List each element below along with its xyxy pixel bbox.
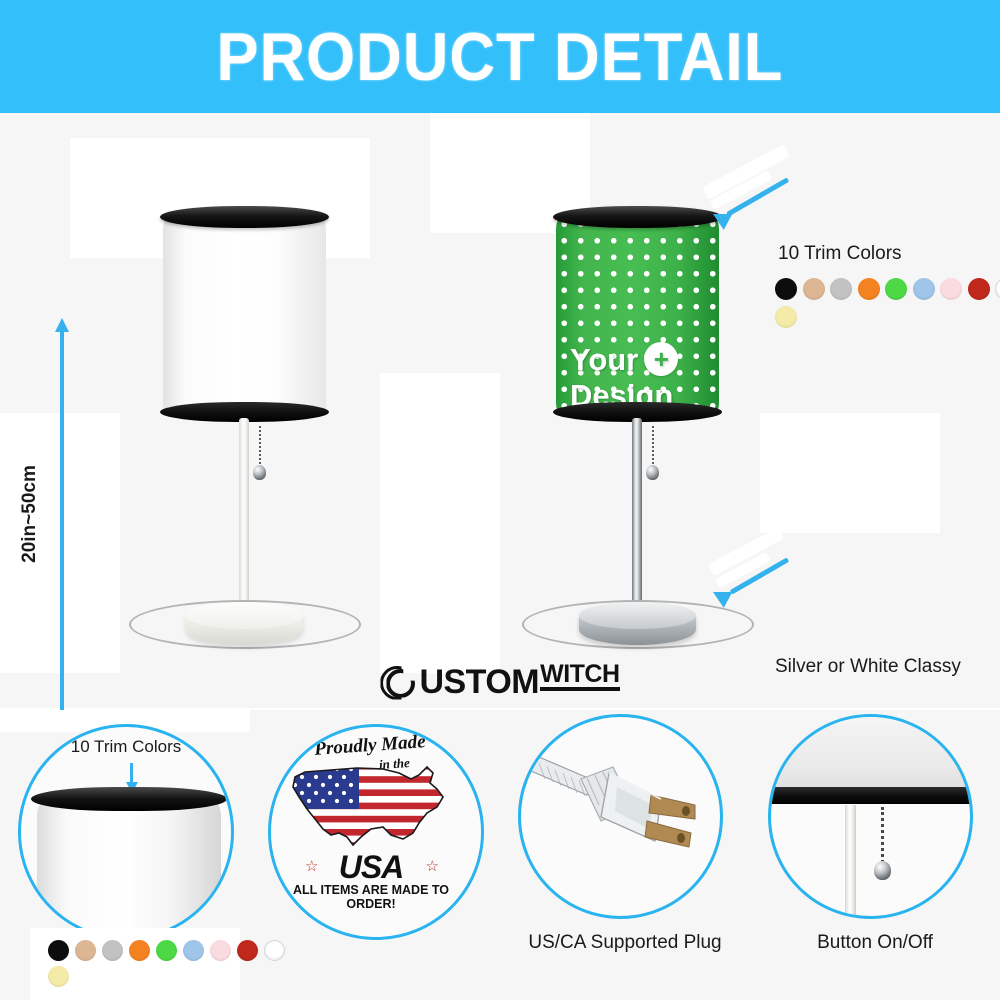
lamp-base	[186, 602, 303, 645]
swatch-row-2	[48, 966, 268, 987]
usa-line-1: Proudly Made	[304, 730, 435, 761]
swatch-tan[interactable]	[75, 940, 96, 961]
logo-sub-text: WITCH	[540, 661, 619, 691]
swatch-gray[interactable]	[102, 940, 123, 961]
plug-caption: US/CA Supported Plug	[500, 932, 750, 954]
lampshade-surface	[163, 216, 326, 416]
logo-c-icon	[380, 664, 418, 702]
add-design-plus-icon[interactable]: +	[644, 342, 678, 376]
lamp-pole	[239, 418, 249, 623]
swatch-green[interactable]	[885, 278, 907, 300]
swatch-row-1	[48, 940, 268, 961]
feature-panel-made-in-usa: Proudly Made in the	[250, 710, 500, 1000]
swatch-row-2	[775, 306, 1000, 328]
swatch-yellow[interactable]	[775, 306, 797, 328]
design-line-1: Your	[570, 344, 638, 375]
pull-chain[interactable]	[881, 807, 884, 863]
lampshade-crop	[768, 714, 973, 789]
swatch-white[interactable]	[995, 278, 1000, 300]
button-caption: Button On/Off	[750, 932, 1000, 954]
base-finish-arrow-icon	[712, 553, 802, 603]
made-in-usa-badge-circle: Proudly Made in the	[268, 724, 484, 940]
lamp-base	[579, 602, 696, 645]
usa-subtitle: ALL ITEMS ARE MADE TO ORDER!	[279, 883, 463, 911]
swatch-light-blue[interactable]	[183, 940, 204, 961]
swatch-orange[interactable]	[858, 278, 880, 300]
usa-badge: Proudly Made in the	[283, 737, 459, 897]
brand-logo: USTOM WITCH	[0, 655, 1000, 710]
pull-chain-ball	[646, 465, 659, 480]
swatch-yellow[interactable]	[48, 966, 69, 987]
height-dimension-label: 20in~50cm	[19, 424, 41, 604]
swatch-black[interactable]	[48, 940, 69, 961]
swatch-orange[interactable]	[129, 940, 150, 961]
usa-map-flag-icon	[287, 763, 455, 849]
lampshade-top-trim	[31, 787, 227, 811]
swatch-red[interactable]	[237, 940, 258, 961]
star-right-icon: ☆	[426, 857, 439, 875]
lamp-pole	[632, 418, 642, 623]
swatch-white[interactable]	[264, 940, 285, 961]
pull-chain-ball[interactable]	[874, 861, 891, 880]
plug-photo-circle	[518, 714, 723, 919]
lampshade-top-trim	[160, 206, 329, 228]
pull-chain	[652, 426, 654, 468]
swatch-light-blue[interactable]	[913, 278, 935, 300]
page-title: PRODUCT DETAIL	[217, 18, 784, 96]
trim-colors-inner-label: 10 Trim Colors	[21, 737, 231, 757]
trim-colors-photo-circle: 10 Trim Colors	[18, 724, 234, 940]
lampshade-top-trim	[553, 206, 722, 228]
swatch-tan[interactable]	[803, 278, 825, 300]
trim-colors-title: 10 Trim Colors	[778, 243, 902, 265]
power-plug-icon	[529, 743, 719, 893]
lampshade-crop	[37, 799, 221, 939]
header-banner: PRODUCT DETAIL	[0, 0, 1000, 113]
lampshade-surface: Your + Design	[556, 216, 719, 416]
logo-main-text: USTOM	[419, 663, 539, 702]
feature-panel-plug: US/CA Supported Plug	[500, 710, 750, 1000]
swatch-pink[interactable]	[210, 940, 231, 961]
swatch-row-1	[775, 278, 1000, 300]
trim-color-swatches	[775, 278, 1000, 334]
trim-callout-arrow-icon	[714, 173, 804, 223]
pull-chain-ball	[253, 465, 266, 480]
pull-chain	[259, 426, 261, 468]
lampshade-bottom-trim	[768, 787, 973, 804]
backdrop-wash	[760, 413, 940, 533]
lamp-pole	[845, 805, 856, 919]
main-stage: 7in~18cm 20in~50cm	[0, 113, 1000, 708]
button-photo-circle	[768, 714, 973, 919]
backdrop-wash	[380, 373, 500, 673]
swatch-red[interactable]	[968, 278, 990, 300]
product-detail-infographic: PRODUCT DETAIL 7in~18cm 20in~50cm	[0, 0, 1000, 1000]
swatch-black[interactable]	[775, 278, 797, 300]
swatch-pink[interactable]	[940, 278, 962, 300]
feature-panel-button: Button On/Off	[750, 710, 1000, 1000]
swatch-gray[interactable]	[830, 278, 852, 300]
bottom-trim-color-swatches	[48, 940, 268, 992]
swatch-green[interactable]	[156, 940, 177, 961]
your-design-placeholder: Your + Design	[570, 342, 705, 411]
